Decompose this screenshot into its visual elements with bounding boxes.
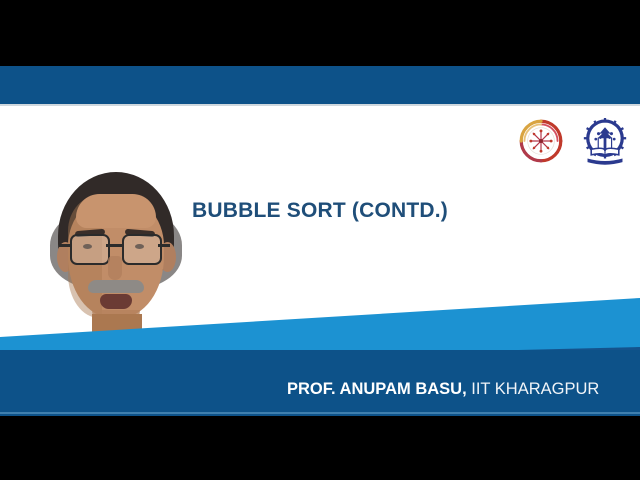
presenter-moustache (88, 280, 144, 293)
presenter-glasses-lens-left (70, 234, 110, 265)
slide-header-underline (0, 104, 640, 106)
letterbox-bottom (0, 416, 640, 480)
presenter-glasses-bridge (106, 244, 122, 247)
nptel-logo (518, 118, 564, 164)
slide-header-band (0, 66, 640, 104)
presenter-mouth (100, 294, 132, 309)
slide-footer-band: PROF. ANUPAM BASU, IIT KHARAGPUR (0, 350, 640, 416)
letterbox-top (0, 0, 640, 66)
logo-row (518, 116, 628, 166)
presenter-name: PROF. ANUPAM BASU, (287, 380, 467, 398)
video-frame: PROBLEM SOLVING THROUGH PROGRAMMING IN C (0, 0, 640, 480)
presenter-credit: PROF. ANUPAM BASU, IIT KHARAGPUR (287, 380, 599, 399)
presenter-glasses-temple-left (59, 244, 71, 247)
presenter-nose (108, 256, 122, 280)
footer-rule (0, 412, 640, 414)
presenter-glasses-lens-right (122, 234, 162, 265)
presenter-affiliation: IIT KHARAGPUR (467, 380, 600, 398)
slide-heading: BUBBLE SORT (CONTD.) (0, 199, 640, 223)
iit-kharagpur-logo (582, 116, 628, 166)
presenter-glasses-temple-right (158, 244, 170, 247)
